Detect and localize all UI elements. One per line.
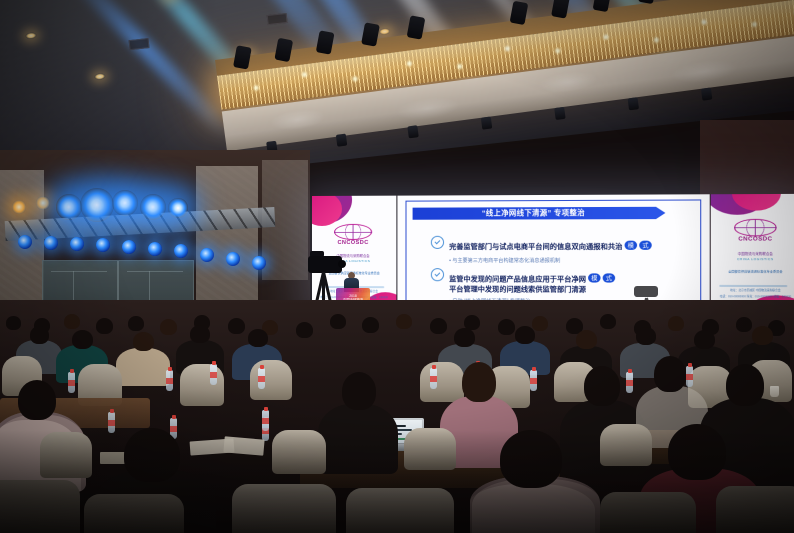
spotlight-blue [112,190,138,216]
audience-chair[interactable] [0,480,80,533]
audience-head [248,329,268,347]
water-bottle[interactable] [430,368,437,389]
led-par-light [174,244,188,258]
globe-icon [734,219,777,236]
audience-head [736,317,752,332]
audience-head [128,316,144,331]
audience-chair[interactable] [600,492,696,533]
soffit-fixture [336,134,347,147]
led-par-light [200,248,214,262]
decorative-blob [312,196,342,226]
door-panel-edge [127,271,183,272]
check-circle-icon [431,268,444,281]
audience-head [454,328,475,347]
audience-body [116,348,170,386]
led-video-wall: CNCOSDC 中国物流与采购联合会 CHINA LOGISTICS 全国餐饮供… [312,194,794,316]
audience-head [133,332,154,351]
bullet-2-tag-2: 式 [603,273,616,282]
audience-head [532,316,548,331]
logo-english-name: CHINA LOGISTICS [717,258,794,262]
audience-head [500,430,562,488]
water-bottle[interactable] [686,366,693,387]
soffit-fixture [628,97,639,110]
slide-bullet-1: 完善监管部门与试点电商平台间的信息双向通报和共治模式 与主要第三方电商平台构建常… [431,236,652,264]
audience-head [668,316,684,331]
water-bottle[interactable] [262,410,269,431]
led-par-light [148,242,162,256]
logo-tagline: 全国餐饮供应链流通标准化专业委员会 [714,270,794,274]
led-par-light [44,236,58,250]
audience-chair[interactable] [600,424,652,466]
bullet-2-main-line2: 平台管理中发现的问题线索供监管部门清源 [449,286,615,295]
audience-head [64,314,80,329]
soffit-fixture [407,125,418,138]
audience-head [190,325,210,343]
bullet-2-main-wrap: 监管中发现的问题产品信息应用于平台净网模式 [449,268,615,287]
audience-head [330,314,346,329]
water-bottle[interactable] [530,370,537,391]
ceiling-vent [267,13,288,25]
audience-chair[interactable] [84,494,184,533]
spotlight-blue [140,194,166,220]
audience-chair[interactable] [40,432,92,478]
audience-head [362,317,379,333]
audience-chair[interactable] [346,488,454,533]
spotlight-blue [168,198,188,218]
soffit-fixture [481,116,492,129]
globe-icon [334,224,372,240]
logo-wordmark: CNCOSDC [734,237,777,243]
audience-head [636,327,656,345]
audience-head [396,314,412,329]
audience-head [72,330,93,349]
audience-chair[interactable] [404,428,456,470]
audience-head [694,330,715,349]
audience-body [318,404,398,474]
led-par-light [70,237,84,251]
bullet-1-main: 完善监管部门与试点电商平台间的信息双向通报和共治 [449,244,622,251]
water-bottle[interactable] [68,372,75,393]
bullet-1-tag-2: 式 [639,241,652,250]
audience-head [124,428,180,482]
soffit-fixture [554,107,565,120]
audience-head [600,314,616,329]
cncosdc-logo: CNCOSDC [734,219,777,247]
audience-head [584,366,620,406]
water-bottle[interactable] [210,364,217,385]
bullet-2-tag-1: 模 [588,273,601,282]
audience-head [228,318,245,334]
ceiling-vent [129,38,150,50]
audience-head [342,372,376,410]
water-bottle[interactable] [258,368,265,389]
spotlight-amber [36,196,50,210]
audience-head [296,322,313,338]
led-par-light [252,256,266,270]
bullet-1-tag-1: 模 [625,241,638,250]
camera-body [634,286,658,297]
screen-panel-right: CNCOSDC 中国物流与采购联合会 CHINA LOGISTICS 全国餐饮供… [711,194,794,316]
soffit-fixture [701,88,712,101]
led-par-light [226,252,240,266]
slide-title: “线上净网线下清源” 专项整治 [482,209,585,217]
audience-head [654,356,686,392]
audience-head [752,326,773,345]
audience-head [30,326,49,344]
check-circle-icon [431,236,444,249]
audience-head [668,424,726,480]
logo-wordmark: CNCOSDC [334,241,372,247]
water-bottle[interactable] [166,370,173,391]
camera-body [308,256,342,273]
bullet-1-sub: 与主要第三方电商平台构建常态化消息通报机制 [449,257,652,264]
audience-chair[interactable] [232,484,336,533]
spotlight-blue [56,194,82,220]
audience-head [576,330,597,349]
bullet-2-main-line1: 监管中发现的问题产品信息应用于平台净网 [449,276,586,283]
audience-head [18,380,56,420]
conference-hall-photo: CNCOSDC 中国物流与采购联合会 CHINA LOGISTICS 全国餐饮供… [0,0,794,533]
audience-head [160,319,177,335]
bullet-1-text-group: 完善监管部门与试点电商平台间的信息双向通报和共治模式 与主要第三方电商平台构建常… [449,236,652,264]
document-page[interactable] [223,436,264,455]
audience-head [96,318,113,334]
audience-head [515,326,535,344]
slide-title-banner: “线上净网线下清源” 专项整治 [413,207,656,220]
logo-contact-line: 地址：北京市西城区 中国物流采购联合会 [716,289,794,292]
audience-head [726,364,764,406]
led-par-light [122,240,136,254]
bullet-1-main-wrap: 完善监管部门与试点电商平台间的信息双向通报和共治模式 [449,236,652,254]
logo-chinese-name: 中国物流与采购联合会 [717,252,794,256]
audience-chair[interactable] [716,486,794,533]
led-par-light [96,238,110,252]
water-bottle[interactable] [108,412,115,433]
water-bottle[interactable] [626,372,633,393]
audience-head [430,318,447,334]
audience-chair[interactable] [420,362,464,402]
spotlight-amber [12,200,26,214]
audience-chair[interactable] [272,430,326,474]
camera-lens [338,260,346,268]
led-par-light [18,235,32,249]
paper-cup[interactable] [770,386,779,397]
audience-head [6,316,21,330]
audience-head [462,362,496,402]
audience-chair[interactable] [180,364,224,406]
spotlight-blue [80,188,114,222]
audience-chair[interactable] [250,360,292,400]
logo-contact-line: 电话：010-00000000 传真：010-00000000 邮编：10000… [716,295,794,298]
logo-divider [719,285,787,287]
cncosdc-logo: CNCOSDC [334,224,372,250]
door-panel-edge [51,271,107,272]
audience-head [498,319,515,335]
